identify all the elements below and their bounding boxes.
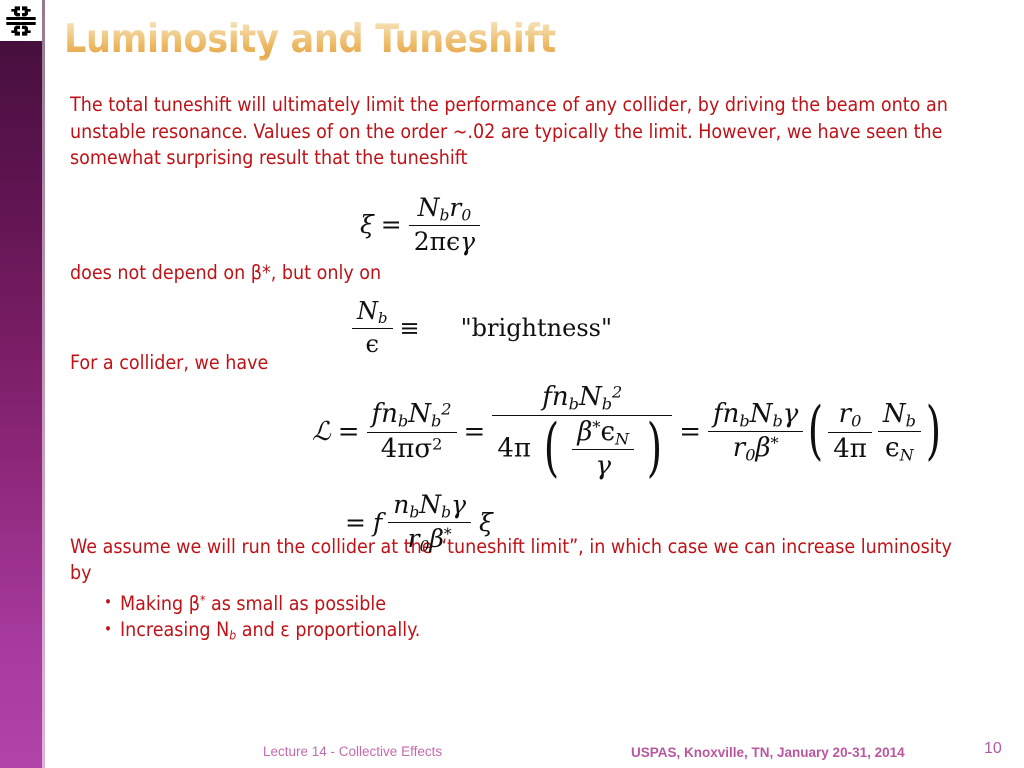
t2-inner-den: γ <box>572 450 634 481</box>
t3-pb-N-sub: b <box>906 411 916 430</box>
lum2-equals: = <box>338 508 373 537</box>
equation-luminosity-line2: = f nbNbγ r0β* ξ <box>338 490 493 556</box>
lum2-r: r <box>408 524 420 553</box>
tuneshift-gamma: γ <box>460 227 475 256</box>
tuneshift-r-sub: 0 <box>461 206 471 224</box>
lum2-f: f <box>373 508 388 537</box>
t3-pb-N: N <box>883 399 906 429</box>
fermilab-logo-icon <box>0 0 42 41</box>
t3-N: N <box>750 399 773 429</box>
decorative-sidebar <box>0 0 42 768</box>
luminosity-equals-2: = <box>457 417 493 447</box>
t1-N: N <box>408 399 431 429</box>
footer-lecture-label: Lecture 14 - Collective Effects <box>263 744 442 759</box>
lum2-den: r0β* <box>388 523 471 555</box>
t1-N-sub: b <box>431 412 441 431</box>
right-paren: ) <box>647 426 662 472</box>
t3-pa-r: r <box>839 399 851 429</box>
list-item: Making β* as small as possible <box>104 587 975 617</box>
t2-beta: β <box>577 417 592 447</box>
t1-den-sup: 2 <box>432 434 442 453</box>
equation-brightness: Nb ϵ ≡ "brightness" <box>352 297 612 358</box>
equation-luminosity: ℒ = fnbNb2 4πσ2 = fnbNb2 4π ( β*ϵN γ ) =… <box>312 382 946 481</box>
brightness-denominator: ϵ <box>352 329 393 358</box>
t2-inner-num: β*ϵN <box>572 417 634 451</box>
t3-beta-star: * <box>771 433 779 452</box>
luminosity-equals-1: = <box>331 417 367 447</box>
paragraph-1: The total tuneshift will ultimately limi… <box>70 92 975 172</box>
lum2-n: n <box>393 490 409 519</box>
list-item: Increasing Nb and ε proportionally. <box>104 616 975 649</box>
t3-pa-r-sub: 0 <box>851 412 861 431</box>
t3-N-sub: b <box>772 411 782 430</box>
lum2-beta-star: * <box>444 526 452 544</box>
t2-eps-sub: N <box>615 429 629 448</box>
luminosity-term1-den: 4πσ2 <box>367 433 457 464</box>
t3-gamma: γ <box>783 399 799 429</box>
tuneshift-r: r <box>449 193 461 222</box>
lum2-fraction: nbNbγ r0β* <box>388 490 471 556</box>
luminosity-term2-den: 4π ( β*ϵN γ ) <box>492 416 672 482</box>
t2-inner-fraction: β*ϵN γ <box>572 417 634 482</box>
t2-fn: fn <box>542 382 568 412</box>
luminosity-equals-3: = <box>672 417 708 447</box>
tuneshift-equals: = <box>374 210 409 239</box>
bullet-1-post: as small as possible <box>205 591 386 614</box>
tuneshift-N-sub: b <box>439 206 449 224</box>
brightness-equiv: ≡ <box>393 314 427 342</box>
luminosity-term1: fnbNb2 4πσ2 <box>367 399 457 464</box>
t2-N-sup: 2 <box>612 382 622 401</box>
lum2-num: nbNbγ <box>388 490 471 523</box>
t3-r-sub: 0 <box>745 446 755 465</box>
tuneshift-fraction: Nbr0 2πϵγ <box>409 193 480 256</box>
page-title: Luminosity and Tuneshift <box>64 17 556 62</box>
t3-pb-eps-sub: N <box>900 446 914 465</box>
paragraph-2: does not depend on β*, but only on <box>70 260 975 287</box>
tuneshift-epsilon: ϵ <box>446 227 460 256</box>
luminosity-term3-num: fnbNbγ <box>708 399 803 433</box>
sidebar-edge <box>42 0 45 768</box>
t2-4pi: 4π <box>497 433 531 463</box>
luminosity-term1-num: fnbNb2 <box>367 399 457 433</box>
t2-fn-sub: b <box>569 395 579 414</box>
lum2-gamma: γ <box>451 490 466 519</box>
t3-fn: fn <box>713 399 739 429</box>
tuneshift-2pi: 2π <box>414 227 446 256</box>
bullet-2-pre: Increasing N <box>120 618 229 641</box>
brightness-numerator: Nb <box>352 297 393 329</box>
t3-pb-eps: ϵ <box>885 433 900 463</box>
t3-pa-num: r0 <box>828 399 872 433</box>
brightness-fraction: Nb ϵ <box>352 297 393 358</box>
bullet-2-post: and ε proportionally. <box>236 618 420 641</box>
brightness-N: N <box>357 297 378 325</box>
slide-content: The total tuneshift will ultimately limi… <box>70 92 975 650</box>
t3-pa-den: 4π <box>828 433 872 464</box>
tuneshift-numerator: Nbr0 <box>409 193 480 226</box>
luminosity-lhs: ℒ <box>312 417 331 447</box>
t1-fn-sub: b <box>398 412 408 431</box>
lum2-r-sub: 0 <box>420 538 430 556</box>
bullet-1-pre: Making β <box>120 591 200 614</box>
luminosity-term2: fnbNb2 4π ( β*ϵN γ ) <box>492 382 672 481</box>
equation-tuneshift: ξ = Nbr0 2πϵγ <box>360 193 480 256</box>
t1-den: 4πσ <box>381 434 432 464</box>
t1-fn: fn <box>372 399 398 429</box>
t3-fn-sub: b <box>739 411 749 430</box>
tuneshift-denominator: 2πϵγ <box>409 226 480 256</box>
brightness-label: "brightness" <box>427 314 612 342</box>
paragraph-4: We assume we will run the collider at th… <box>70 534 975 587</box>
lum2-N-sub: b <box>441 503 451 521</box>
t3-pb-num: Nb <box>878 399 921 433</box>
luminosity-term2-num: fnbNb2 <box>492 382 672 416</box>
left-paren-outer: ( <box>808 409 823 455</box>
right-paren-outer: ) <box>926 409 941 455</box>
t1-N-sup: 2 <box>441 400 451 419</box>
lum2-beta: β <box>429 524 443 553</box>
t3-paren-frac-a: r0 4π <box>828 399 872 464</box>
t2-N-sub: b <box>602 395 612 414</box>
tuneshift-N: N <box>418 193 440 222</box>
page-number: 10 <box>984 740 1002 758</box>
t3-r: r <box>733 433 745 463</box>
t2-N: N <box>579 382 602 412</box>
left-paren: ( <box>544 426 559 472</box>
luminosity-term3: fnbNbγ r0β* <box>708 399 803 465</box>
lum2-xi: ξ <box>471 508 493 537</box>
luminosity-term3-den: r0β* <box>708 432 803 465</box>
tuneshift-lhs: ξ <box>360 210 374 239</box>
t3-beta: β <box>755 433 770 463</box>
bullet-list: Making β* as small as possible Increasin… <box>104 587 975 650</box>
t3-paren-frac-b: Nb ϵN <box>878 399 921 465</box>
lum2-n-sub: b <box>409 503 419 521</box>
lum2-N: N <box>419 490 441 519</box>
brightness-N-sub: b <box>378 309 388 327</box>
t3-pb-den: ϵN <box>878 432 921 465</box>
t2-eps: ϵ <box>600 417 615 447</box>
footer-event-label: USPAS, Knoxville, TN, January 20-31, 201… <box>631 745 905 760</box>
